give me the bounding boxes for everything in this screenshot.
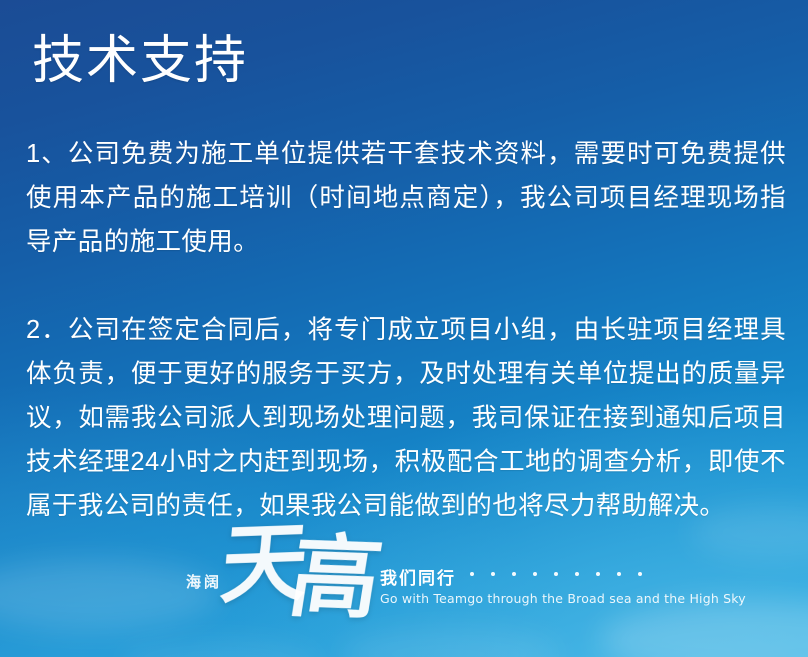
slide-title: 技术支持 [32, 32, 248, 92]
branding-logo: 海阔 天高 我们同行 Go with Teamgo through the Br… [174, 534, 634, 649]
brand-tagline-text: Go with Teamgo through the Broad sea and… [380, 591, 746, 606]
brand-prefix-text: 海阔 [186, 571, 222, 592]
decorative-dot [638, 572, 642, 576]
slide-body: 1、公司免费为施工单位提供若干套技术资料，需要时可免费提供使用本产品的施工培训（… [26, 132, 786, 528]
body-paragraph-1: 1、公司免费为施工单位提供若干套技术资料，需要时可免费提供使用本产品的施工培训（… [26, 132, 786, 264]
decorative-dot [554, 572, 558, 576]
decorative-dot [596, 572, 600, 576]
brand-slogan-text: 我们同行 [380, 564, 456, 589]
calligraphy-logo-icon: 天高 [214, 517, 395, 645]
calligraphy-char-gao: 高 [284, 532, 373, 625]
presentation-slide: 技术支持 1、公司免费为施工单位提供若干套技术资料，需要时可免费提供使用本产品的… [0, 0, 808, 657]
footer-branding: 海阔 天高 我们同行 Go with Teamgo through the Br… [0, 534, 808, 649]
decorative-dot [533, 572, 537, 576]
decorative-dot [575, 572, 579, 576]
body-paragraph-2: 2．公司在签定合同后，将专门成立项目小组，由长驻项目经理具体负责，便于更好的服务… [26, 308, 786, 528]
decorative-dot [512, 572, 516, 576]
decorative-dot [491, 572, 495, 576]
decorative-dots [470, 572, 642, 576]
decorative-dot [470, 572, 474, 576]
decorative-dot [617, 572, 621, 576]
